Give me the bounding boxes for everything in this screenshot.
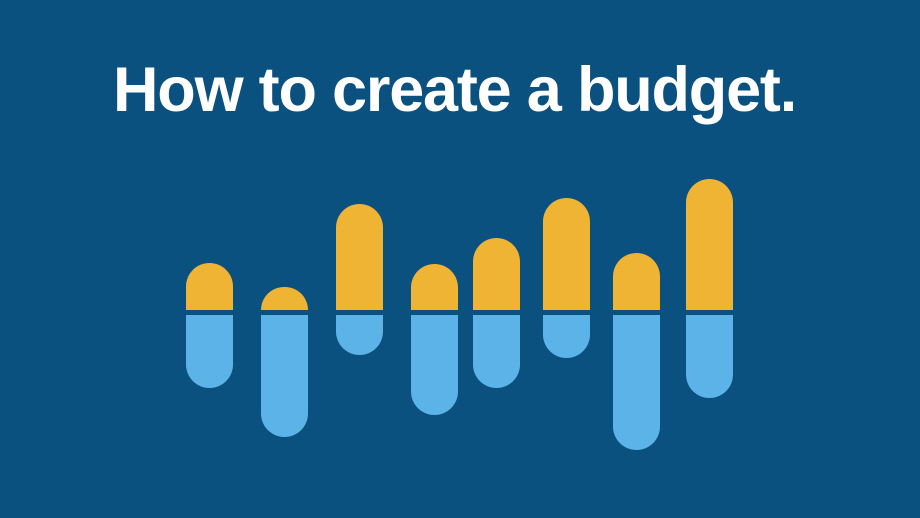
bar-4 — [411, 0, 458, 518]
bar-2-upper-segment — [261, 287, 308, 310]
slide-canvas: How to create a budget. — [0, 0, 920, 518]
bar-5-upper-segment — [473, 238, 520, 310]
bar-8-lower-segment — [686, 315, 733, 399]
bar-2-lower-segment — [261, 315, 308, 438]
bar-4-lower-segment — [411, 315, 458, 416]
bar-8 — [686, 0, 733, 518]
bar-3-lower-segment — [336, 315, 383, 356]
budget-bar-chart — [0, 0, 920, 518]
bar-1-lower-segment — [186, 315, 233, 389]
bar-6-upper-segment — [543, 198, 590, 310]
bar-1-upper-segment — [186, 263, 233, 310]
bar-2 — [261, 0, 308, 518]
bar-5 — [473, 0, 520, 518]
bar-7-upper-segment — [613, 253, 660, 310]
bar-6-lower-segment — [543, 315, 590, 359]
bar-3-upper-segment — [336, 204, 383, 310]
bar-5-lower-segment — [473, 315, 520, 389]
bar-4-upper-segment — [411, 264, 458, 310]
bar-7 — [613, 0, 660, 518]
bar-1 — [186, 0, 233, 518]
bar-8-upper-segment — [686, 179, 733, 310]
bar-6 — [543, 0, 590, 518]
bar-3 — [336, 0, 383, 518]
bar-7-lower-segment — [613, 315, 660, 451]
